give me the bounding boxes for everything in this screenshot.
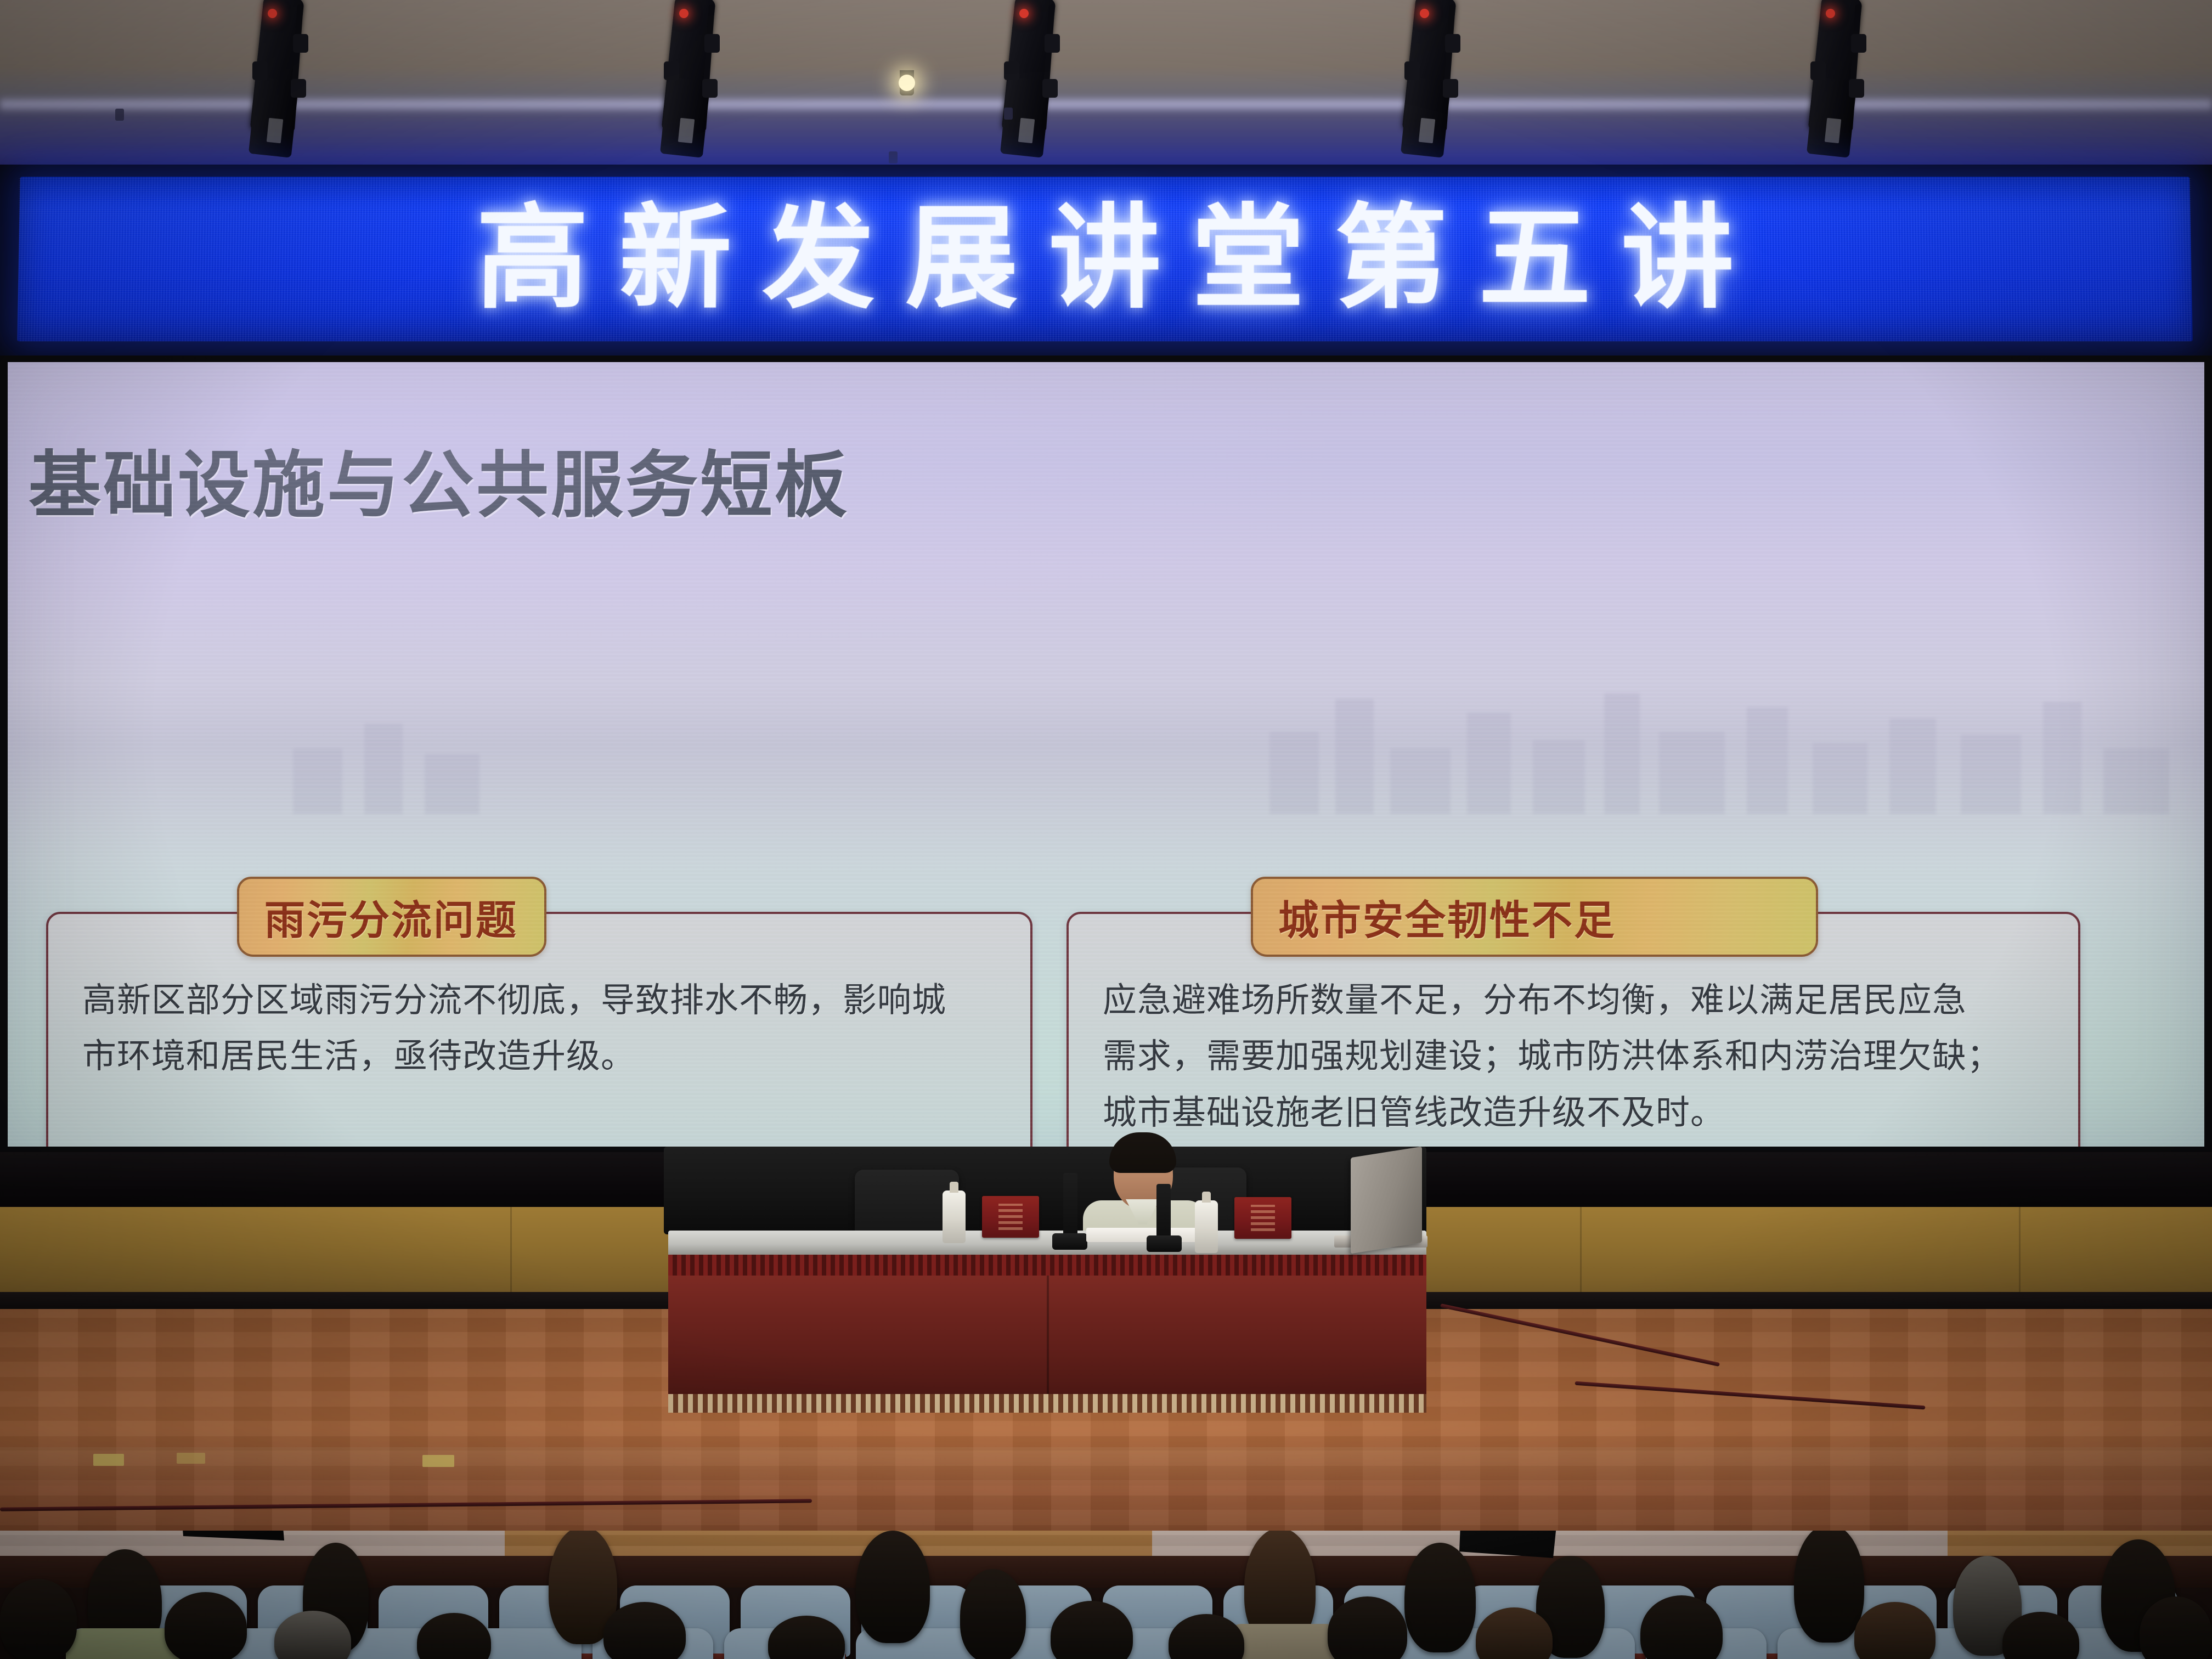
led-banner-board: 高新发展讲堂第五讲	[17, 177, 2193, 341]
podium-desk	[668, 1231, 1426, 1420]
slide: 基础设施与公共服务短板 雨污分流问题 高新区部分区域雨污分流不彻底，导致排水不畅…	[8, 362, 2204, 1147]
desk-base-trim	[668, 1394, 1426, 1413]
card-body: 应急避难场所数量不足，分布不均衡，难以满足居民应急 需求，需要加强规划建设；城市…	[1103, 973, 2049, 1142]
laptop-screen	[1351, 1147, 1422, 1254]
nameplate	[982, 1196, 1039, 1238]
audience-area	[0, 1531, 2212, 1659]
slide-skyline-watermark	[8, 680, 2204, 861]
microphone-base	[1147, 1235, 1182, 1252]
stage-floor-highlight	[0, 1447, 2212, 1486]
ceiling-glow	[0, 96, 2212, 112]
ceiling	[0, 0, 2212, 176]
card-paragraph: 应急避难场所数量不足，分布不均衡，难以满足居民应急	[1103, 973, 2049, 1028]
audience-member	[856, 1531, 930, 1643]
ceiling-fixture-icon	[1004, 108, 1013, 120]
stage-spotlight-icon	[1794, 0, 1876, 161]
water-bottle	[943, 1190, 966, 1243]
presenter-hair	[1109, 1132, 1176, 1173]
audience-member	[0, 1579, 77, 1659]
ceiling-fixture-icon	[889, 151, 898, 163]
audience-member	[165, 1592, 247, 1659]
card-paragraph: 需求，需要加强规划建设；城市防洪体系和内涝治理欠缺；	[1103, 1029, 2049, 1084]
card-tab: 雨污分流问题	[237, 877, 546, 957]
led-banner-frame: 高新发展讲堂第五讲	[0, 165, 2212, 361]
slide-title: 基础设施与公共服务短板	[29, 427, 849, 532]
card-paragraph: 城市基础设施老旧管线改造升级不及时。	[1103, 1086, 2049, 1141]
floor-marker	[93, 1454, 124, 1466]
desk-trim	[668, 1255, 1426, 1277]
card-tab-label: 城市安全韧性不足	[1253, 888, 1616, 946]
card-tab-label: 雨污分流问题	[239, 888, 518, 946]
card-tab: 城市安全韧性不足	[1251, 877, 1818, 957]
desk-top-surface	[668, 1231, 1426, 1256]
slide-card-rain-sewage: 雨污分流问题 高新区部分区域雨污分流不彻底，导致排水不畅，影响城 市环境和居民生…	[46, 912, 1032, 1147]
projection-screen: 基础设施与公共服务短板 雨污分流问题 高新区部分区域雨污分流不彻底，导致排水不畅…	[0, 356, 2212, 1159]
stage-spotlight-icon	[236, 0, 318, 161]
stage-spotlight-icon	[647, 0, 730, 161]
desk-front-panel	[668, 1276, 1426, 1396]
podium-backdrop	[664, 1147, 1426, 1234]
floor-marker	[422, 1455, 454, 1467]
audience-member	[1794, 1531, 1864, 1643]
stage-spotlight-icon	[988, 0, 1070, 161]
papers	[1086, 1228, 1201, 1242]
nameplate	[1234, 1197, 1291, 1239]
downlight-icon	[899, 75, 915, 91]
card-body: 高新区部分区域雨污分流不彻底，导致排水不畅，影响城 市环境和居民生活，亟待改造升…	[82, 973, 1001, 1086]
audience-member	[960, 1569, 1026, 1659]
floor-marker	[177, 1453, 205, 1464]
audience-member	[1404, 1543, 1476, 1652]
slide-card-urban-resilience: 城市安全韧性不足 应急避难场所数量不足，分布不均衡，难以满足居民应急 需求，需要…	[1066, 912, 2080, 1147]
water-bottle	[1195, 1200, 1218, 1253]
ceiling-fixture-icon	[115, 109, 124, 121]
stage-spotlight-icon	[1388, 0, 1470, 161]
led-banner-text: 高新发展讲堂第五讲	[444, 203, 1765, 315]
microphone-base	[1052, 1233, 1087, 1250]
auditorium-scene: 高新发展讲堂第五讲	[0, 0, 2212, 1659]
card-paragraph: 高新区部分区域雨污分流不彻底，导致排水不畅，影响城	[82, 973, 1001, 1028]
card-paragraph: 市环境和居民生活，亟待改造升级。	[82, 1029, 1001, 1084]
